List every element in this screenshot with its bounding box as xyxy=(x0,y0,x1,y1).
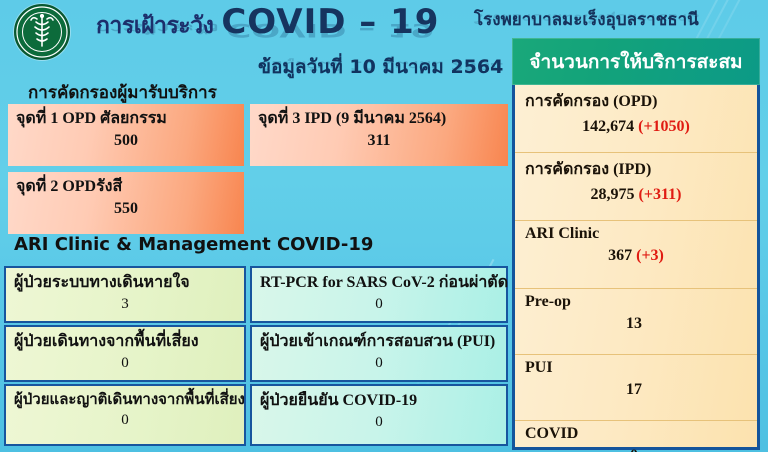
panel-title: จำนวนการให้บริการสะสม xyxy=(529,47,742,77)
panel-row-label: COVID xyxy=(525,425,747,443)
panel-row-label: PUI xyxy=(525,359,747,377)
card-value: 0 xyxy=(14,412,236,429)
card-label: ผู้ป่วยระบบทางเดินหายใจ xyxy=(14,272,236,294)
panel-row-ipd-screening[interactable]: การคัดกรอง (IPD) 28,975(+311) xyxy=(515,153,757,221)
panel-row-preop[interactable]: Pre-op 13 xyxy=(515,289,757,355)
screening-section-caption: การคัดกรองผู้มารับบริการ xyxy=(28,79,217,106)
screening-card-opd-radiology[interactable]: จุดที่ 2 OPDรังสี 550 xyxy=(8,172,244,234)
card-value: 311 xyxy=(258,132,500,150)
cumulative-services-panel-header: จำนวนการให้บริการสะสม xyxy=(512,38,760,85)
ari-card-confirmed-covid[interactable]: ผู้ป่วยยืนยัน COVID-19 0 xyxy=(250,384,508,446)
ministry-of-public-health-logo xyxy=(14,4,70,60)
ari-section-caption: ARI Clinic & Management COVID-19 xyxy=(14,234,373,255)
panel-row-ari-clinic[interactable]: ARI Clinic 367(+3) xyxy=(515,221,757,289)
card-value: 500 xyxy=(16,132,236,150)
panel-row-label: การคัดกรอง (OPD) xyxy=(525,89,747,114)
panel-row-label: Pre-op xyxy=(525,293,747,311)
card-label: จุดที่ 3 IPD (9 มีนาคม 2564) xyxy=(258,108,500,130)
screening-card-opd-surgery[interactable]: จุดที่ 1 OPD ศัลยกรรม 500 xyxy=(8,104,244,166)
ari-card-pui[interactable]: ผู้ป่วยเข้าเกณฑ์การสอบสวน (PUI) 0 xyxy=(250,325,508,382)
card-label: ผู้ป่วยและญาติเดินทางจากพื้นที่เสี่ยง xyxy=(14,390,236,410)
card-value: 3 xyxy=(14,296,236,313)
ari-card-rtpcr-preop[interactable]: RT-PCR for SARS CoV-2 ก่อนผ่าตัด 0 xyxy=(250,266,508,323)
ari-card-travel-risk-area[interactable]: ผู้ป่วยเดินทางจากพื้นที่เสี่ยง 0 xyxy=(4,325,246,382)
panel-row-covid[interactable]: COVID 0 xyxy=(515,421,757,452)
card-label: ผู้ป่วยยืนยัน COVID-19 xyxy=(260,390,498,412)
panel-row-pui[interactable]: PUI 17 xyxy=(515,355,757,421)
card-value: 0 xyxy=(14,355,236,372)
card-value: 0 xyxy=(260,296,498,313)
card-label: ผู้ป่วยเดินทางจากพื้นที่เสี่ยง xyxy=(14,331,236,353)
card-label: จุดที่ 1 OPD ศัลยกรรม xyxy=(16,108,236,130)
card-label: ผู้ป่วยเข้าเกณฑ์การสอบสวน (PUI) xyxy=(260,331,498,353)
ari-card-respiratory-patients[interactable]: ผู้ป่วยระบบทางเดินหายใจ 3 xyxy=(4,266,246,323)
panel-row-value: 142,674 xyxy=(582,118,634,135)
cumulative-services-panel: การคัดกรอง (OPD) 142,674(+1050) การคัดกร… xyxy=(512,38,760,450)
panel-row-value: 17 xyxy=(626,381,642,398)
title-en: COVID – 19 xyxy=(221,2,439,42)
title-thai: การเฝ้าระวัง xyxy=(96,13,213,39)
card-value: 550 xyxy=(16,200,236,218)
screening-card-ipd[interactable]: จุดที่ 3 IPD (9 มีนาคม 2564) 311 xyxy=(250,104,508,166)
panel-row-label: การคัดกรอง (IPD) xyxy=(525,157,747,182)
panel-row-opd-screening[interactable]: การคัดกรอง (OPD) 142,674(+1050) xyxy=(515,85,757,153)
panel-row-value: 0 xyxy=(630,447,638,452)
panel-row-value: 13 xyxy=(626,315,642,332)
hospital-name: โรงพยาบาลมะเร็งอุบลราชธานี xyxy=(474,6,699,33)
panel-row-delta: (+311) xyxy=(639,186,682,203)
card-value: 0 xyxy=(260,414,498,431)
card-label: RT-PCR for SARS CoV-2 ก่อนผ่าตัด xyxy=(260,272,498,294)
panel-row-delta: (+1050) xyxy=(638,118,690,135)
covid-dashboard-poster: การเฝ้าระวังCOVID – 19 การเฝ้าระวังCOVID… xyxy=(0,0,768,452)
page-title: การเฝ้าระวังCOVID – 19 xyxy=(96,2,439,44)
date-line: ข้อมูลวันที่ 10 มีนาคม 2564 xyxy=(258,52,503,82)
panel-row-delta: (+3) xyxy=(636,247,664,264)
ari-card-patient-relatives-travel-risk[interactable]: ผู้ป่วยและญาติเดินทางจากพื้นที่เสี่ยง 0 xyxy=(4,384,246,446)
card-value: 0 xyxy=(260,355,498,372)
panel-row-value: 28,975 xyxy=(591,186,635,203)
panel-row-value: 367 xyxy=(608,247,632,264)
panel-row-label: ARI Clinic xyxy=(525,225,747,243)
card-label: จุดที่ 2 OPDรังสี xyxy=(16,176,236,198)
